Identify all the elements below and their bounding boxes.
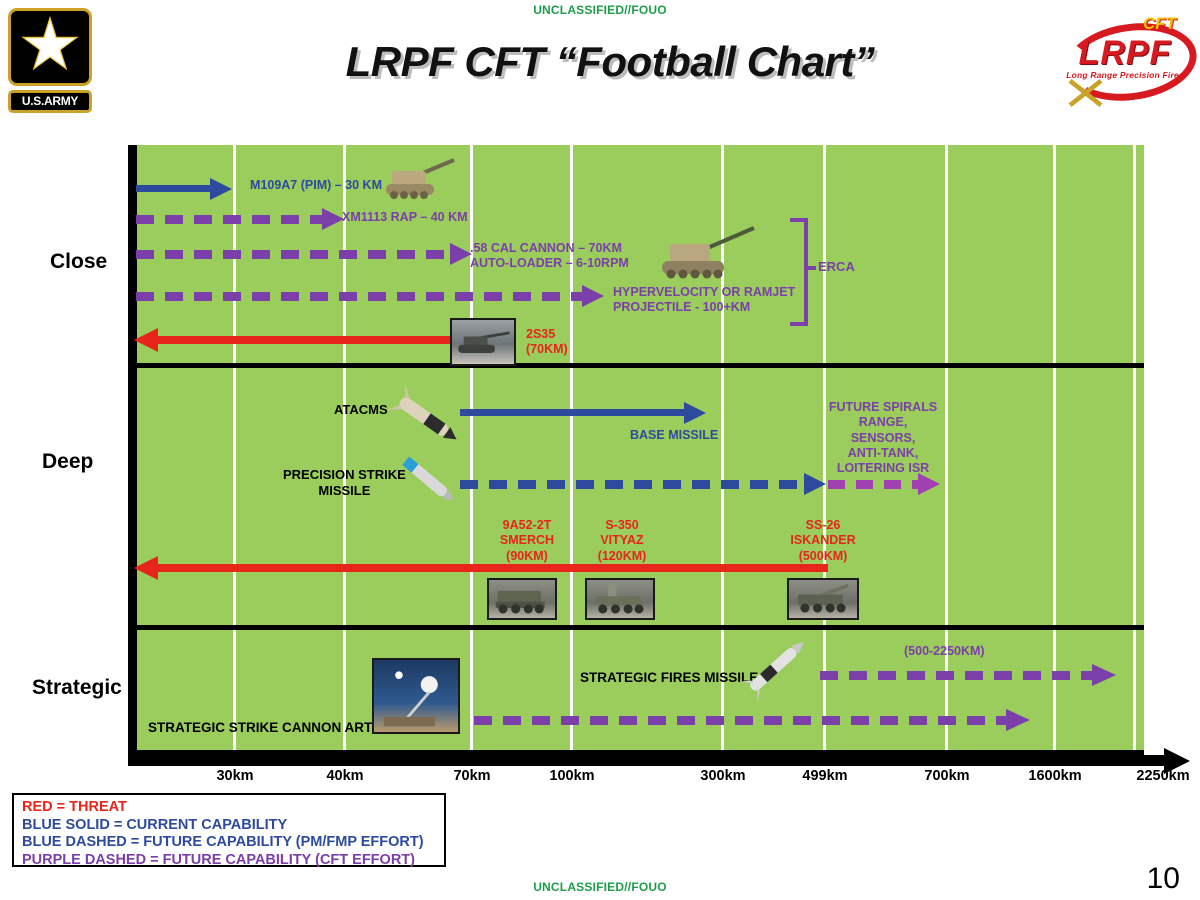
label-xm1113-rap: XM1113 RAP – 40 KM (342, 210, 468, 225)
photo-strategic-fires-missile (730, 636, 816, 702)
cannon-launch-icon (374, 660, 458, 732)
photo-atacms-missile (382, 382, 466, 450)
launcher-vehicle-icon (587, 580, 653, 618)
arrow-strategic-fires-missile (820, 668, 1120, 686)
label-hypervelocity-projectile: HYPERVELOCITY OR RAMJET PROJECTILE - 100… (613, 285, 795, 316)
label-base-missile: BASE MISSILE (630, 428, 718, 443)
gridline-499km (823, 145, 826, 755)
arrow-strategic-cannon-artillery (474, 713, 1034, 731)
photo-strategic-strike-cannon (372, 658, 460, 734)
photo-vityaz-launcher (585, 578, 655, 620)
us-army-logo: U.S.ARMY (8, 8, 92, 113)
classification-banner-bottom: UNCLASSIFIED//FOUO (0, 880, 1200, 894)
label-future-spirals: FUTURE SPIRALS RANGE, SENSORS, ANTI-TANK… (828, 400, 938, 476)
label-threat-iskander: SS-26 ISKANDER (500KM) (783, 518, 863, 564)
football-chart-field (128, 145, 1144, 755)
legend-item-blue-dashed: BLUE DASHED = FUTURE CAPABILITY (PM/FMP … (22, 834, 436, 852)
army-logo-label: U.S.ARMY (8, 90, 92, 113)
label-atacms: ATACMS (334, 402, 388, 418)
arrow-hypervelocity-projectile (136, 289, 606, 305)
label-threat-smerch: 9A52-2T SMERCH (90KM) (488, 518, 566, 564)
band-separator-deep-strategic (128, 625, 1144, 630)
arrowhead-right-icon (804, 473, 826, 495)
lrpf-wordmark: LRPF (1063, 36, 1187, 70)
lrpf-cft-badge: CFT (1143, 14, 1176, 34)
arrowhead-left-icon (134, 328, 158, 352)
photo-m109a7-howitzer (378, 155, 460, 203)
army-shield-icon (8, 8, 92, 86)
row-label-deep: Deep (42, 450, 93, 474)
photo-precision-strike-missile (388, 448, 464, 506)
lrpf-subtitle: Long Range Precision Fires (1061, 70, 1189, 80)
arrowhead-right-icon (322, 208, 344, 230)
arrow-threat-2s35 (134, 332, 474, 352)
gridline-40km (343, 145, 346, 755)
arrowhead-right-icon (1092, 664, 1116, 686)
label-threat-vityaz: S-350 VITYAZ (120KM) (588, 518, 656, 564)
band-separator-close-deep (128, 363, 1144, 368)
legend-box: RED = THREAT BLUE SOLID = CURRENT CAPABI… (12, 793, 446, 867)
x-tick-700km: 700km (924, 768, 969, 784)
crossed-cannons-icon (1067, 78, 1105, 108)
label-strategic-range-note: (500-2250KM) (904, 644, 985, 659)
photo-erca-howitzer (650, 222, 760, 284)
photo-smerch-launcher (487, 578, 557, 620)
x-axis-bar (128, 755, 1168, 766)
erca-howitzer-silhouette-icon (650, 222, 760, 284)
erca-bracket (790, 218, 808, 326)
chart-x-axis: 30km 40km 70km 100km 300km 499km 700km 1… (128, 752, 1193, 770)
chart-field-background (136, 145, 1144, 755)
photo-iskander-launcher (787, 578, 859, 620)
page-number: 10 (1147, 862, 1180, 896)
gridline-70km (470, 145, 473, 755)
x-tick-1600km: 1600km (1028, 768, 1081, 784)
arrow-m109a7 (136, 181, 236, 197)
page-title: LRPF CFT “Football Chart” (230, 38, 990, 86)
missile-icon (382, 382, 466, 450)
arrowhead-right-icon (210, 178, 232, 200)
arrow-58cal-cannon (136, 247, 476, 263)
x-tick-2250km: 2250km (1136, 768, 1189, 784)
legend-item-blue-solid: BLUE SOLID = CURRENT CAPABILITY (22, 817, 436, 835)
missile-icon (730, 636, 816, 702)
arrow-threat-deep (134, 560, 828, 580)
arrowhead-right-icon (918, 473, 940, 495)
x-tick-40km: 40km (326, 768, 363, 784)
gridline-700km (945, 145, 948, 755)
arrowhead-right-icon (582, 285, 604, 307)
arrowhead-right-icon (684, 402, 706, 424)
photo-2s35-threat (450, 318, 516, 366)
arrow-xm1113-rap (136, 212, 346, 228)
label-erca: ERCA (818, 259, 855, 275)
arrow-precision-strike-missile (460, 477, 830, 493)
howitzer-silhouette-icon (378, 155, 460, 203)
gridline-1600km (1053, 145, 1056, 755)
classification-banner-top: UNCLASSIFIED//FOUO (0, 3, 1200, 17)
army-star-icon (24, 20, 76, 72)
x-tick-499km: 499km (802, 768, 847, 784)
launcher-vehicle-icon (789, 580, 857, 618)
gridline-100km (570, 145, 573, 755)
missile-icon (388, 448, 464, 506)
label-58cal-cannon: .58 CAL CANNON – 70KM AUTO-LOADER – 6-10… (470, 241, 629, 272)
legend-item-red-threat: RED = THREAT (22, 799, 436, 817)
x-tick-100km: 100km (549, 768, 594, 784)
gridline-30km (233, 145, 236, 755)
arrowhead-right-icon (450, 243, 472, 265)
row-label-close: Close (50, 250, 107, 274)
x-tick-70km: 70km (453, 768, 490, 784)
chart-y-axis (128, 145, 137, 755)
legend-item-purple-dashed: PURPLE DASHED = FUTURE CAPABILITY (CFT E… (22, 852, 436, 870)
lrpf-cft-logo: LRPF Long Range Precision Fires CFT (1055, 12, 1195, 112)
arrow-deep-future-spirals (828, 477, 946, 493)
arrowhead-left-icon (134, 556, 158, 580)
x-tick-30km: 30km (216, 768, 253, 784)
tank-silhouette-icon (452, 320, 514, 364)
arrow-base-missile (460, 405, 715, 421)
x-tick-300km: 300km (700, 768, 745, 784)
gridline-2250km (1133, 145, 1136, 755)
erca-bracket-stub (804, 266, 816, 270)
label-m109a7: M109A7 (PIM) – 30 KM (250, 178, 382, 193)
launcher-vehicle-icon (489, 580, 555, 618)
label-threat-2s35: 2S35 (70KM) (526, 327, 568, 358)
row-label-strategic: Strategic (32, 676, 122, 700)
arrowhead-right-icon (1006, 709, 1030, 731)
